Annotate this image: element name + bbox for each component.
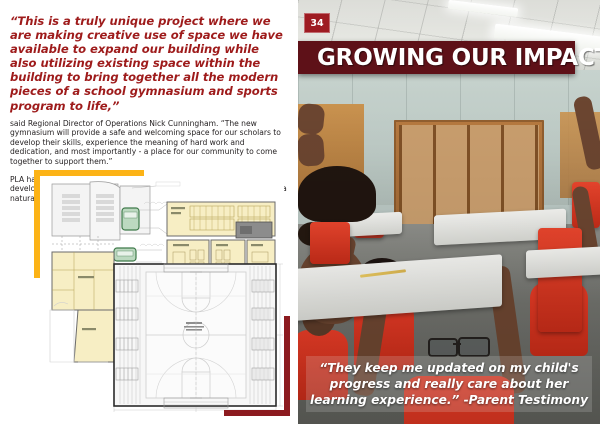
page-title: GROWING OUR IMPACT: [298, 45, 600, 71]
student-desk: [526, 245, 600, 278]
student-chair: [310, 222, 350, 264]
eyeglasses-icon: [428, 338, 458, 357]
eyeglasses-icon: [458, 337, 490, 357]
eyeglasses-bridge: [453, 343, 461, 345]
accent-bracket-maroon: [224, 316, 290, 416]
student-hair: [298, 166, 376, 222]
left-text-panel: “This is a truly unique project where we…: [0, 0, 298, 424]
testimonial-text: “They keep me updated on my child's prog…: [308, 360, 590, 408]
page-number-badge: 34: [304, 13, 330, 33]
pull-quote: “This is a truly unique project where we…: [10, 14, 288, 113]
right-photo-panel: 34 GROWING OUR IMPACT “They keep me upda…: [298, 0, 600, 424]
accent-bracket-amber: [34, 170, 144, 278]
raised-hand: [298, 133, 325, 167]
raised-hand: [298, 103, 325, 136]
parent-testimonial: “They keep me updated on my child's prog…: [306, 356, 592, 412]
brochure-spread: “This is a truly unique project where we…: [0, 0, 600, 424]
gymnasium-floorplan: [34, 170, 290, 420]
body-paragraph-1: said Regional Director of Operations Nic…: [10, 119, 288, 167]
student-chair: [538, 228, 582, 332]
headline-bar: GROWING OUR IMPACT: [298, 41, 575, 74]
